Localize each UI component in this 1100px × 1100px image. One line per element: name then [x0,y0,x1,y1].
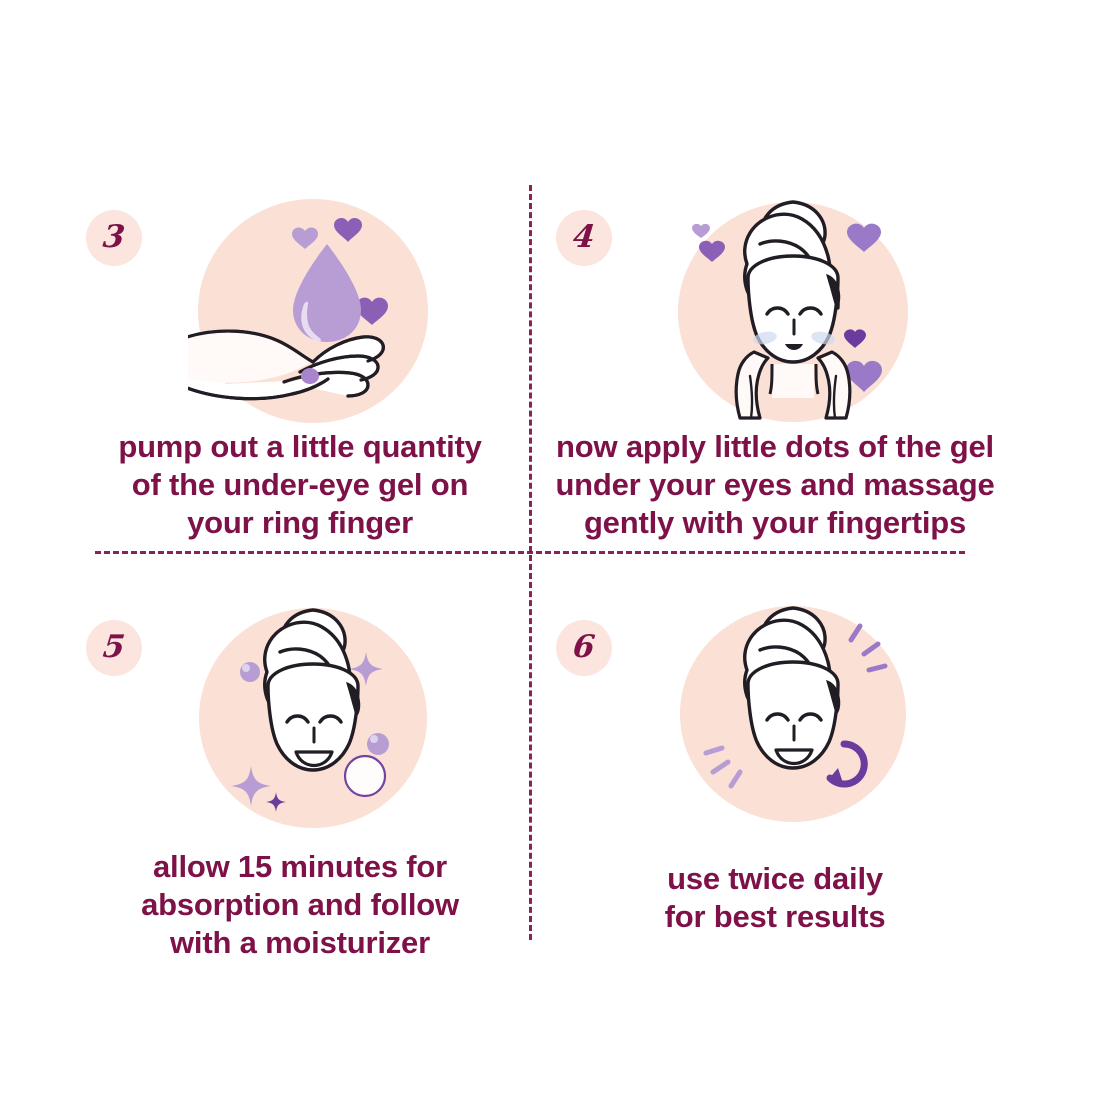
caption-line: for best results [540,898,1010,936]
step-number-6: 6 [572,632,597,663]
caption-line: now apply little dots of the gel [540,428,1010,466]
caption-line: of the under-eye gel on [70,466,530,504]
horizontal-dashed-divider [95,551,965,554]
caption-line: your ring finger [70,504,530,542]
woman-with-repeat-arrow-icon [668,596,918,846]
step-number-badge-6: 6 [556,620,612,676]
woman-applying-gel-under-eyes-icon [668,186,918,436]
step-panel-3: 3 [70,180,530,550]
caption-line: under your eyes and massage [540,466,1010,504]
step-caption-5: allow 15 minutes for absorption and foll… [70,848,530,961]
hand-with-gel-droplet-icon [188,186,438,436]
woman-with-sparkles-absorption-icon [188,596,438,846]
caption-line: use twice daily [540,860,1010,898]
caption-line: with a moisturizer [70,924,530,962]
infographic-canvas: 3 [0,0,1100,1100]
caption-line: pump out a little quantity [70,428,530,466]
step-caption-6: use twice daily for best results [540,860,1010,936]
caption-line: gently with your fingertips [540,504,1010,542]
step-caption-3: pump out a little quantity of the under-… [70,428,530,541]
step-caption-4: now apply little dots of the gel under y… [540,428,1010,541]
step-panel-5: 5 [70,590,530,950]
step-number-badge-3: 3 [86,210,142,266]
step-number-badge-4: 4 [556,210,612,266]
step-number-badge-5: 5 [86,620,142,676]
step-panel-6: 6 [540,590,1010,950]
step-number-4: 4 [572,222,597,253]
caption-line: absorption and follow [70,886,530,924]
step-number-3: 3 [102,222,127,253]
step-number-5: 5 [102,632,127,663]
caption-line: allow 15 minutes for [70,848,530,886]
step-panel-4: 4 [540,180,1010,550]
